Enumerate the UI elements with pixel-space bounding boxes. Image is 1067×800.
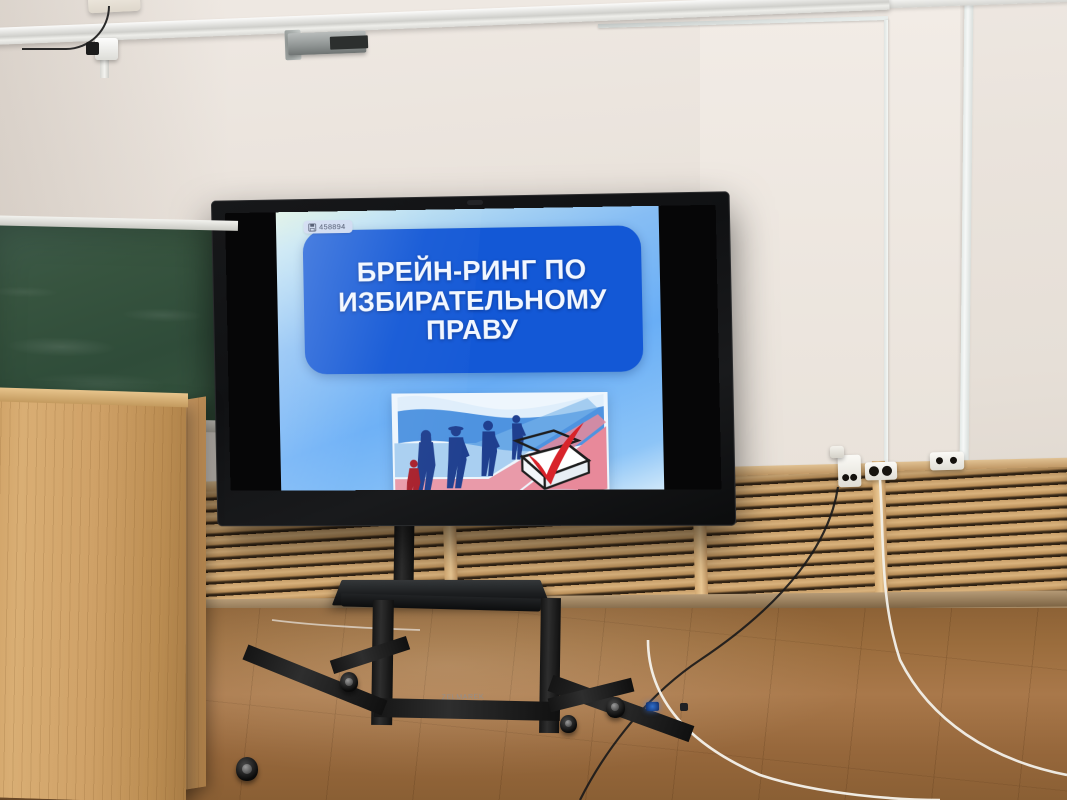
wall-panel-right [700, 0, 960, 480]
sensor-stem [100, 58, 109, 78]
power-led-indicator [646, 702, 659, 711]
voters-walking-to-ballot-box-illustration [391, 392, 610, 490]
sensor-plug-icon [86, 42, 99, 55]
whiteboard-frame-right [884, 20, 888, 498]
wall-outlet-2[interactable] [865, 462, 897, 481]
slide-badge: 458894 [303, 220, 352, 234]
classroom-scene: 458894 БРЕЙН-РИНГ ПО ИЗБИРАТЕЛЬНОМУ ПРАВ… [0, 0, 1067, 800]
presentation-slide[interactable]: 458894 БРЕЙН-РИНГ ПО ИЗБИРАТЕЛЬНОМУ ПРАВ… [276, 206, 665, 491]
wall-outlet-1[interactable] [838, 455, 862, 488]
caster-wheel-1 [236, 757, 258, 781]
flat-panel-display[interactable]: 458894 БРЕЙН-РИНГ ПО ИЗБИРАТЕЛЬНОМУ ПРАВ… [210, 196, 730, 526]
caster-wheel-4 [560, 715, 577, 733]
letterbox-left [225, 212, 281, 490]
caster-wheel-2 [340, 672, 358, 692]
cart-column-upper [394, 520, 415, 586]
wall-outlet-3[interactable] [930, 452, 964, 471]
ir-receiver-icon [680, 703, 688, 711]
wooden-lectern [0, 393, 186, 800]
display-screen[interactable]: 458894 БРЕЙН-РИНГ ПО ИЗБИРАТЕЛЬНОМУ ПРАВ… [225, 205, 721, 491]
slide-title: БРЕЙН-РИНГ ПО ИЗБИРАТЕЛЬНОМУ ПРАВУ [329, 254, 615, 346]
caster-wheel-3 [606, 697, 625, 718]
slide-badge-number: 458894 [319, 222, 346, 231]
save-disk-icon [308, 223, 316, 231]
display-brand-logo: ZELMAREK [432, 693, 494, 704]
rail-bracket-clamp [330, 35, 368, 49]
outlet-plug [830, 446, 844, 458]
display-camera-icon [467, 200, 483, 205]
letterbox-right [659, 205, 722, 490]
slide-title-card: БРЕЙН-РИНГ ПО ИЗБИРАТЕЛЬНОМУ ПРАВУ [302, 225, 643, 374]
